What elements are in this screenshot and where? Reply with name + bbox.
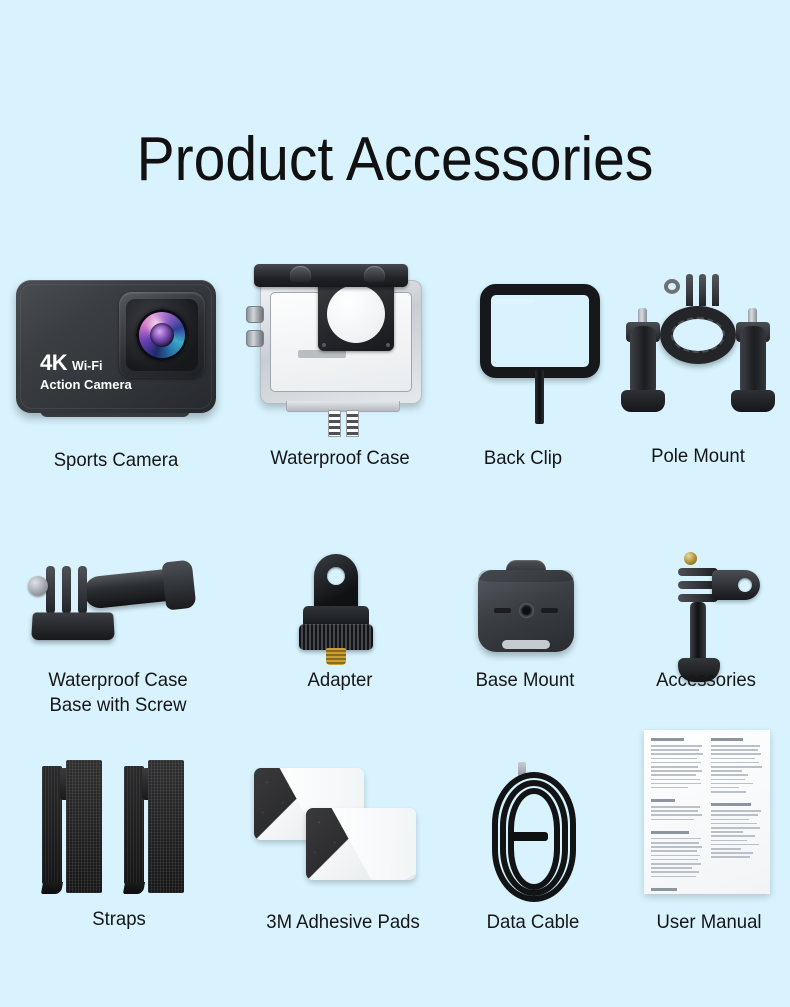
caption-pole-mount: Pole Mount <box>588 444 790 469</box>
straps-image <box>14 752 224 927</box>
adapter-mount-tab <box>314 554 358 612</box>
caption-case-base-screw: Waterproof Case Base with Screw <box>0 668 242 718</box>
case-latch-knob <box>290 266 311 282</box>
adapter-assembly <box>290 548 382 678</box>
case-mount-finger <box>346 410 359 437</box>
mount-bottom-slot <box>502 640 550 649</box>
manual-column-left <box>651 738 704 886</box>
mount-thumbscrew <box>664 279 680 294</box>
case-side-button-1 <box>246 306 264 323</box>
case-side-button-2 <box>246 330 264 347</box>
case-port-screw <box>322 343 326 347</box>
caption-accessories: Accessories <box>603 668 790 693</box>
base-mount-assembly <box>456 554 596 664</box>
clamp-foot <box>621 390 665 412</box>
manual-heading <box>711 738 744 741</box>
cable-tie <box>510 832 548 841</box>
user-manual-image <box>636 728 782 903</box>
case-bottom-rail <box>286 401 400 412</box>
base-thumbscrew <box>28 576 48 596</box>
mount-prongs <box>684 274 722 308</box>
back-clip-image <box>448 258 598 433</box>
clip-stem <box>535 370 544 424</box>
manual-page <box>644 730 770 894</box>
base-prong <box>78 566 87 614</box>
data-cable-image <box>462 758 604 933</box>
arm-mount-tab <box>712 570 760 600</box>
clip-frame <box>480 284 600 378</box>
adhesive-pad <box>306 808 416 880</box>
caption-adhesive-pads: 3M Adhesive Pads <box>217 910 470 935</box>
arm-thumb-pin <box>684 552 697 565</box>
page-title: Product Accessories <box>32 124 759 195</box>
adapter-knurled-ring <box>299 624 373 650</box>
waterproof-case-image <box>240 250 440 425</box>
base-arm-end <box>162 560 197 611</box>
product-accessories-page: Product Accessories 4K Wi-Fi Action Came… <box>0 0 790 1007</box>
sports-camera-image: 4K Wi-Fi Action Camera <box>10 258 222 433</box>
base-prong <box>62 566 71 614</box>
camera-lens-icon <box>136 309 188 361</box>
mount-prong <box>686 274 693 306</box>
camera-wifi-label: Wi-Fi <box>72 360 102 373</box>
base-mount-image <box>448 548 602 723</box>
clamp-foot <box>731 390 775 412</box>
base-plate <box>31 612 115 640</box>
handlebar-clamp-ring <box>660 306 736 364</box>
pole-mount-image <box>612 258 784 433</box>
base-prongs <box>46 566 90 616</box>
caption-data-cable: Data Cable <box>437 910 629 935</box>
strap-tail <box>124 766 144 884</box>
base-prong <box>46 566 55 614</box>
clamp-leg <box>740 326 766 398</box>
case-top-lid <box>254 264 408 287</box>
caption-base-mount: Base Mount <box>423 668 626 693</box>
caption-user-manual: User Manual <box>611 910 790 935</box>
mount-slot <box>541 608 558 613</box>
mount-slot <box>494 608 511 613</box>
base-extension-arm <box>83 568 176 609</box>
case-port-screw <box>386 343 390 347</box>
caption-straps: Straps <box>0 907 247 932</box>
strap-body <box>66 760 102 893</box>
case-lower-strip <box>298 350 346 358</box>
case-mount-finger <box>328 410 341 437</box>
camera-lens-plate <box>119 292 205 378</box>
mount-prong <box>699 274 706 306</box>
arm-stem <box>690 602 706 664</box>
mount-prong <box>712 274 719 306</box>
manual-column-right <box>711 738 764 886</box>
clamp-leg <box>630 326 656 398</box>
strap-tail <box>42 766 62 884</box>
camera-body: 4K Wi-Fi Action Camera <box>16 280 216 413</box>
caption-adapter: Adapter <box>224 668 456 693</box>
adapter-tripod-screw <box>326 648 346 665</box>
mount-screw-hole <box>518 602 535 619</box>
caption-sports-camera: Sports Camera <box>0 448 245 473</box>
camera-type-label: Action Camera <box>40 378 132 391</box>
case-lens-port <box>318 277 394 351</box>
case-latch-knob <box>364 266 385 282</box>
camera-resolution-label: 4K <box>40 352 67 374</box>
strap-body <box>148 760 184 893</box>
manual-heading <box>651 738 684 741</box>
